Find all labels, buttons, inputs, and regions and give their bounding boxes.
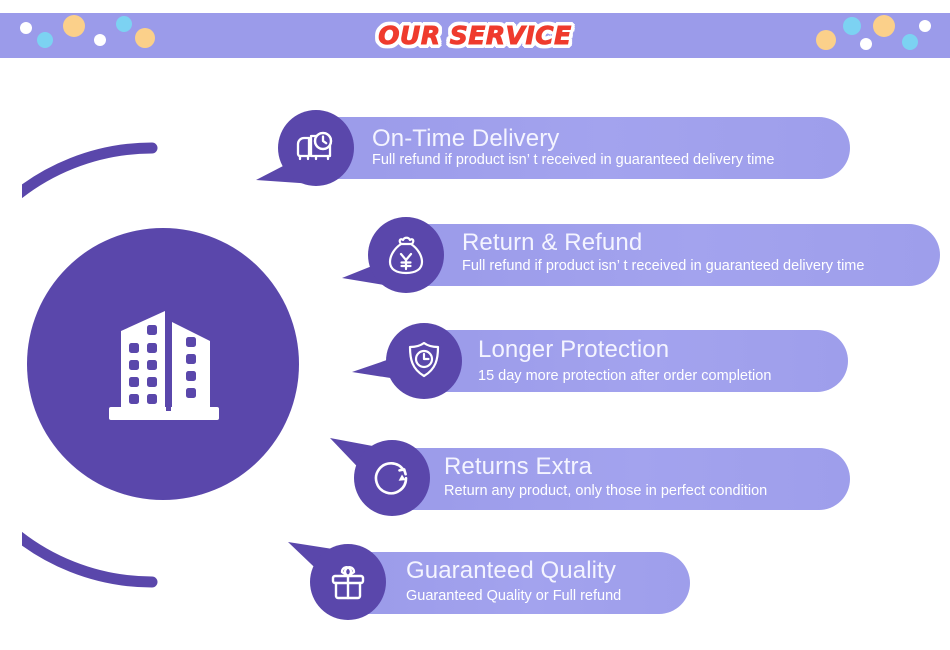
brand-badge <box>27 228 299 500</box>
confetti-dot-white-3 <box>860 38 872 50</box>
service-title: On-Time Delivery <box>372 126 559 151</box>
service-subtitle: 15 day more protection after order compl… <box>478 369 771 385</box>
shield-clock-icon <box>401 338 447 384</box>
service-subtitle: Return any product, only those in perfec… <box>444 484 767 500</box>
service-icon-badge[interactable] <box>354 440 430 516</box>
service-subtitle: Full refund if product isn’ t received i… <box>462 259 864 275</box>
service-title: Guaranteed Quality <box>406 558 616 583</box>
service-title: Returns Extra <box>444 454 592 479</box>
service-icon-badge[interactable] <box>278 110 354 186</box>
money-bag-yen-icon <box>383 232 429 278</box>
service-subtitle: Guaranteed Quality or Full refund <box>406 589 621 605</box>
confetti-dot-blue-3 <box>843 17 861 35</box>
confetti-dot-orange-3 <box>816 30 836 50</box>
gift-box-icon <box>325 559 371 605</box>
delivery-truck-clock-icon <box>292 124 340 172</box>
service-title: Return & Refund <box>462 230 642 255</box>
refresh-arrow-icon <box>369 455 415 501</box>
confetti-dot-white-2 <box>94 34 106 46</box>
service-subtitle: Full refund if product isn’ t received i… <box>372 153 774 169</box>
confetti-dot-white-1 <box>20 22 32 34</box>
confetti-dot-blue-4 <box>902 34 918 50</box>
confetti-dot-blue-2 <box>116 16 132 32</box>
service-title: Longer Protection <box>478 337 669 362</box>
confetti-dot-orange-2 <box>135 28 155 48</box>
confetti-dot-orange-4 <box>873 15 895 37</box>
service-icon-badge[interactable] <box>386 323 462 399</box>
service-icon-badge[interactable] <box>368 217 444 293</box>
office-buildings-icon <box>27 228 299 500</box>
confetti-dot-white-4 <box>919 20 931 32</box>
confetti-dot-blue-1 <box>37 32 53 48</box>
service-icon-badge[interactable] <box>310 544 386 620</box>
infographic-canvas: OUR SERVICE <box>0 0 950 650</box>
header-band <box>0 13 950 58</box>
confetti-dot-orange-1 <box>63 15 85 37</box>
